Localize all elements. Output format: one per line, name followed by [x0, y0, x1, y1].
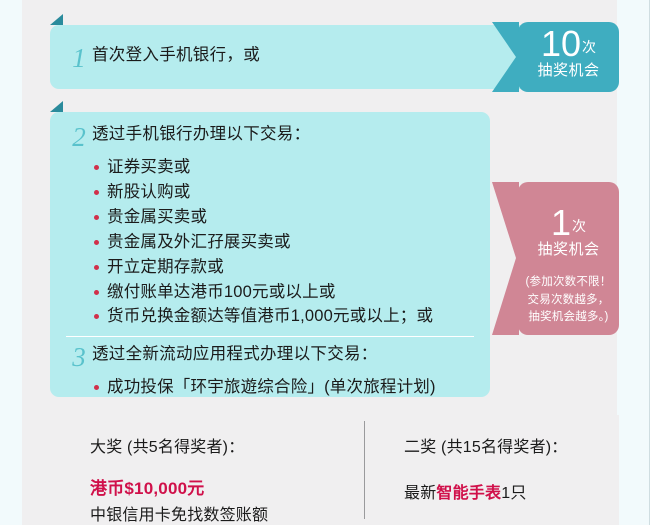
- prize-second-desc: 最新智能手表1只: [404, 479, 634, 503]
- badge-10-chance-label: 抽奖机会: [518, 62, 619, 79]
- prizes-divider: [364, 421, 365, 519]
- step-1-number: 1: [66, 45, 92, 72]
- list-item: 证券买卖或: [94, 155, 490, 180]
- corner-fold-icon: [50, 101, 63, 112]
- badge-1-count: 1: [551, 206, 571, 240]
- badge-1-note: (参加次数不限！交易次数越多，抽奖机会越多。): [518, 274, 619, 326]
- step-2-number: 2: [66, 124, 92, 151]
- list-item: 贵金属及外汇孖展买卖或: [94, 230, 490, 255]
- step-3-section: 3 透过全新流动应用程式办理以下交易： 成功投保「环宇旅遊综合险」(单次旅程计划…: [50, 337, 490, 400]
- prize-second: 二奖 (共15名得奖者)： 最新智能手表1只: [404, 433, 634, 503]
- step-3-title: 透过全新流动应用程式办理以下交易：: [92, 344, 378, 365]
- promotion-infographic: 1 首次登入手机银行，或 2 透过手机银行办理以下交易： 证券买卖或 新股认购或…: [0, 0, 650, 525]
- badge-10-count: 10: [541, 27, 581, 61]
- step-2-title: 透过手机银行办理以下交易：: [92, 124, 310, 145]
- prize-second-suffix: 1只: [501, 485, 526, 502]
- prize-grand-amount: 港币$10,000元: [90, 474, 350, 499]
- badge-10-unit: 次: [582, 37, 596, 57]
- badge-1-chance-label: 抽奖机会: [518, 241, 619, 258]
- content-column: 1 首次登入手机银行，或 2 透过手机银行办理以下交易： 证券买卖或 新股认购或…: [22, 0, 617, 525]
- list-item: 缴付账单达港币100元或以上或: [94, 280, 490, 305]
- badge-10-chances: 10次 抽奖机会: [518, 22, 619, 92]
- step-2-bullet-list: 证券买卖或 新股认购或 贵金属买卖或 贵金属及外汇孖展买卖或 开立定期存款或 缴…: [50, 155, 490, 329]
- badge-1-chance: 1次 抽奖机会 (参加次数不限！交易次数越多，抽奖机会越多。): [518, 182, 619, 335]
- prize-grand-label: 大奖 (共5名得奖者)：: [90, 433, 350, 457]
- step-3-number: 3: [66, 344, 92, 371]
- badge-10-content: 10次 抽奖机会: [518, 22, 619, 79]
- step-1-title: 首次登入手机银行，或: [92, 45, 260, 66]
- list-item: 货币兑换金额达等值港币1,000元或以上；或: [94, 304, 490, 329]
- step-card-2: 2 透过手机银行办理以下交易： 证券买卖或 新股认购或 贵金属买卖或 贵金属及外…: [50, 112, 490, 397]
- step-3-bullet-list: 成功投保「环宇旅遊综合险」(单次旅程计划): [66, 375, 490, 400]
- prize-grand-desc: 中银信用卡免找数签账额: [90, 501, 350, 525]
- step-3-header: 3 透过全新流动应用程式办理以下交易：: [66, 344, 490, 371]
- badge-1-content: 1次 抽奖机会 (参加次数不限！交易次数越多，抽奖机会越多。): [518, 182, 619, 326]
- chevron-notch-icon: [492, 22, 519, 92]
- corner-fold-icon: [50, 14, 63, 25]
- list-item: 新股认购或: [94, 180, 490, 205]
- list-item: 贵金属买卖或: [94, 205, 490, 230]
- prizes-section: 大奖 (共5名得奖者)： 港币$10,000元 中银信用卡免找数签账额 二奖 (…: [50, 415, 619, 525]
- step-2-header: 2 透过手机银行办理以下交易：: [50, 112, 490, 151]
- prize-second-highlight: 智能手表: [436, 485, 501, 502]
- chevron-notch-icon: [492, 182, 519, 335]
- prize-second-label: 二奖 (共15名得奖者)：: [404, 433, 634, 457]
- prize-grand: 大奖 (共5名得奖者)： 港币$10,000元 中银信用卡免找数签账额: [90, 433, 350, 525]
- page-left-gutter: [0, 0, 23, 525]
- list-item: 开立定期存款或: [94, 255, 490, 280]
- prize-second-prefix: 最新: [404, 485, 436, 502]
- list-item: 成功投保「环宇旅遊综合险」(单次旅程计划): [94, 375, 490, 400]
- badge-1-unit: 次: [572, 216, 586, 236]
